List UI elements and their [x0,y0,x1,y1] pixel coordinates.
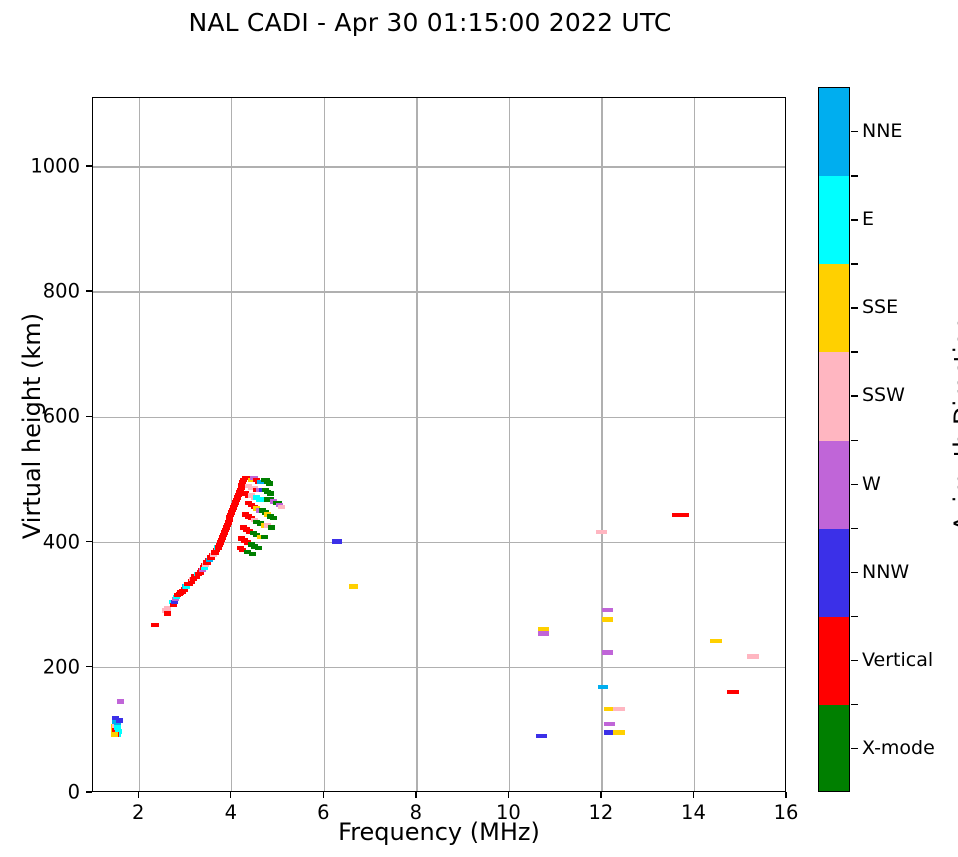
colorbar-segment-ssw [819,352,849,441]
y-axis-tick [86,290,92,291]
plot-area [92,97,786,792]
gridline-vertical [509,98,510,791]
colorbar [818,87,850,792]
x-axis-tick [138,792,139,798]
x-axis-tick-label: 10 [496,801,521,824]
data-point [351,584,358,589]
gridline-horizontal [93,667,785,668]
y-axis-tick-label: 600 [2,405,80,428]
colorbar-boundary-tick [851,528,858,529]
x-axis-tick-label: 14 [681,801,706,824]
colorbar-segment-nnw [819,529,849,618]
data-point [618,730,625,735]
x-axis-tick-label: 8 [410,801,422,824]
data-point [752,654,759,659]
y-axis-tick-label: 1000 [2,154,80,177]
colorbar-label-w: W [862,473,881,495]
y-axis-tick-label: 400 [2,530,80,553]
colorbar-title: Azimuth Direction [949,244,958,604]
data-point [608,722,615,727]
data-point [261,535,268,540]
x-axis-tick [415,792,416,798]
colorbar-tick [851,307,858,308]
colorbar-boundary-tick [851,440,858,441]
gridline-horizontal [93,542,785,543]
x-axis-tick [600,792,601,798]
data-point [606,608,613,613]
x-axis-tick-label: 12 [589,801,614,824]
gridline-horizontal [93,417,785,418]
y-axis-tick-label: 0 [2,781,80,804]
data-point [267,491,274,496]
gridline-horizontal [93,166,785,167]
y-axis-tick-label: 200 [2,655,80,678]
gridline-vertical [231,98,232,791]
data-point [249,552,256,557]
colorbar-tick [851,395,858,396]
colorbar-tick [851,572,858,573]
colorbar-tick [851,484,858,485]
data-point [164,611,171,616]
gridline-vertical [416,98,417,791]
y-axis-tick-label: 800 [2,280,80,303]
x-axis-tick-label: 6 [317,801,329,824]
data-point [601,685,608,690]
colorbar-label-nnw: NNW [862,561,909,583]
ionogram-figure: NAL CADI - Apr 30 01:15:00 2022 UTC Freq… [0,0,958,857]
x-axis-tick [230,792,231,798]
colorbar-segment-w [819,441,849,530]
colorbar-boundary-tick [851,263,858,264]
data-point [117,699,124,704]
colorbar-boundary-tick [851,704,858,705]
x-axis-tick [323,792,324,798]
colorbar-segment-sse [819,264,849,353]
data-point [618,707,625,712]
data-point [715,639,722,644]
chart-title: NAL CADI - Apr 30 01:15:00 2022 UTC [0,8,860,37]
data-canvas [93,98,785,791]
x-axis-tick [508,792,509,798]
data-point [606,650,613,655]
gridline-horizontal [93,291,785,292]
colorbar-label-sse: SSE [862,296,898,318]
x-axis-tick [785,792,786,798]
colorbar-boundary-tick [851,351,858,352]
data-point [540,734,547,739]
data-point [270,516,277,521]
colorbar-boundary-tick [851,616,858,617]
data-point [255,546,262,551]
data-point [278,505,285,510]
colorbar-segment-vertical [819,617,849,706]
data-point [111,732,118,737]
data-point [152,623,159,628]
data-point [266,481,273,486]
colorbar-segment-x-mode [819,705,849,792]
x-axis-tick-label: 4 [225,801,237,824]
x-axis-tick-label: 2 [132,801,144,824]
data-point [682,513,689,518]
colorbar-label-vertical: Vertical [862,649,933,671]
colorbar-tick [851,660,858,661]
colorbar-tick [851,219,858,220]
y-axis-tick [86,791,92,792]
y-axis-tick [86,416,92,417]
colorbar-segment-nne [819,88,849,177]
data-point [335,539,342,544]
x-axis-tick [693,792,694,798]
colorbar-segment-e [819,176,849,265]
data-point [116,718,123,723]
gridline-vertical [694,98,695,791]
y-axis-tick [86,666,92,667]
colorbar-boundary-tick [851,175,858,176]
y-axis-tick [86,541,92,542]
x-axis-tick-label: 16 [774,801,799,824]
y-axis-tick [86,165,92,166]
data-point [600,530,607,535]
colorbar-tick [851,748,858,749]
gridline-vertical [139,98,140,791]
colorbar-label-e: E [862,208,874,230]
data-point [732,690,739,695]
colorbar-label-x-mode: X-mode [862,737,935,759]
data-point [542,631,549,636]
colorbar-tick [851,131,858,132]
colorbar-label-nne: NNE [862,120,902,142]
colorbar-label-ssw: SSW [862,384,905,406]
data-point [268,525,275,530]
data-point [606,617,613,622]
gridline-vertical [324,98,325,791]
